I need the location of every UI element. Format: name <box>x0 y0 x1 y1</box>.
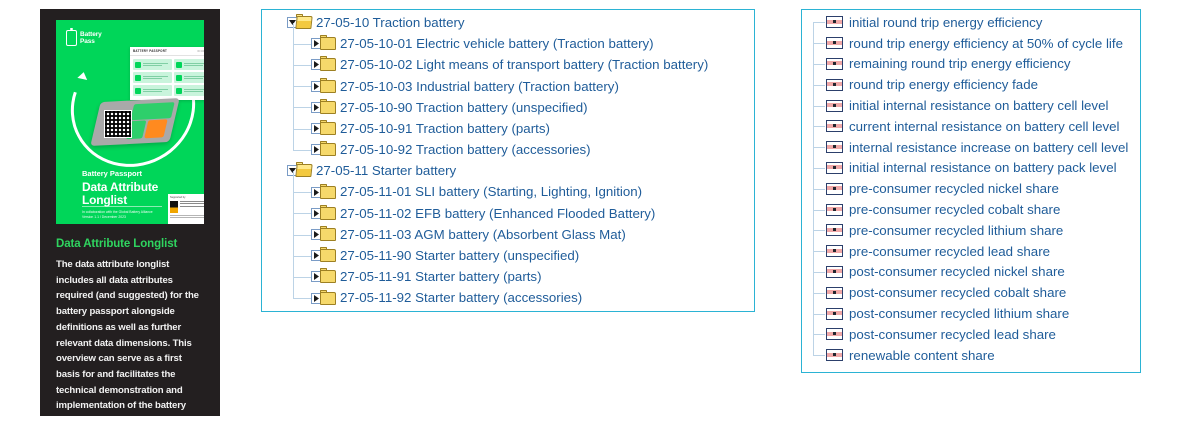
folder-icon <box>320 228 336 241</box>
tree-connector <box>293 107 311 108</box>
tree-connector <box>293 23 294 150</box>
tree-connector <box>293 213 311 214</box>
folder-icon <box>320 207 336 220</box>
tree-connector <box>293 86 311 87</box>
cover-kicker: Battery Passport <box>82 169 196 178</box>
tree-connector <box>293 298 311 299</box>
tile-text-placeholder <box>184 76 204 80</box>
tree-connector <box>813 355 825 356</box>
tree-node-item[interactable]: 27-05-11-03 AGM battery (Absorbent Glass… <box>262 224 754 245</box>
cover-divider <box>82 206 162 207</box>
partner-logo <box>170 201 204 213</box>
attribute-list-item-label: renewable content share <box>843 349 995 362</box>
tile-text-placeholder <box>184 63 204 67</box>
attribute-list-item-label: post-consumer recycled lithium share <box>843 307 1069 320</box>
property-icon <box>826 37 843 49</box>
tree-connector <box>813 189 825 190</box>
attribute-list-item-label: round trip energy efficiency at 50% of c… <box>843 37 1123 50</box>
tile-text-placeholder <box>143 89 172 93</box>
tree-node-label: 27-05-11-91 Starter battery (parts) <box>336 270 542 283</box>
tree-connector <box>813 314 825 315</box>
attribute-list-item-label: initial round trip energy efficiency <box>843 16 1042 29</box>
property-icon <box>826 162 843 174</box>
dashboard-tile <box>174 59 204 70</box>
attribute-list-item-label: initial internal resistance on battery p… <box>843 161 1117 174</box>
attribute-list-item-label: remaining round trip energy efficiency <box>843 57 1071 70</box>
tile-icon <box>135 75 141 81</box>
tree-connector <box>813 230 825 231</box>
attribute-list-item[interactable]: initial internal resistance on battery c… <box>802 95 1140 116</box>
tree-connector <box>293 65 311 66</box>
tree-node-item[interactable]: 27-05-11-01 SLI battery (Starting, Light… <box>262 182 754 203</box>
battery-module-orange <box>144 119 167 138</box>
dashboard-mockup-meta: ID 0000-0000 <box>197 50 204 53</box>
tree-node-label: 27-05-11-03 AGM battery (Absorbent Glass… <box>336 228 626 241</box>
cover-credit-text: In collaboration with the Global Battery… <box>82 210 153 214</box>
attribute-list-item[interactable]: post-consumer recycled nickel share <box>802 262 1140 283</box>
tree-connector <box>813 85 825 86</box>
property-icon <box>826 183 843 195</box>
folder-icon <box>320 270 336 283</box>
tree-node-label: 27-05-10-03 Industrial battery (Traction… <box>336 80 619 93</box>
battery-icon <box>66 30 77 46</box>
tree-node-item[interactable]: 27-05-10-91 Traction battery (parts) <box>262 118 754 139</box>
tree-connector <box>813 293 825 294</box>
tree-connector <box>293 277 311 278</box>
tree-connector <box>813 22 825 23</box>
brand-line-2: Pass <box>80 38 95 45</box>
attribute-list-item-label: pre-consumer recycled lithium share <box>843 224 1063 237</box>
tile-text-placeholder <box>184 89 204 93</box>
tree-node-label: 27-05-10-92 Traction battery (accessorie… <box>336 143 591 156</box>
folder-icon <box>320 80 336 93</box>
property-icon <box>826 100 843 112</box>
brand-line-1: Battery <box>80 31 102 38</box>
partner-footnote-placeholder <box>170 215 204 219</box>
cover-card: Battery Pass BATTERY PASSPORT ID 0000-00… <box>40 9 220 416</box>
battery-pass-logo: Battery Pass <box>66 30 102 46</box>
tree-connector <box>813 64 825 65</box>
tree-node-label: 27-05-10-01 Electric vehicle battery (Tr… <box>336 37 654 50</box>
dashboard-mockup-tiles <box>130 56 204 99</box>
tree-connector <box>293 235 311 236</box>
tree-connector <box>293 171 294 298</box>
property-icon <box>826 224 843 236</box>
attribute-list-item[interactable]: pre-consumer recycled lithium share <box>802 220 1140 241</box>
tree-connector <box>293 129 311 130</box>
attribute-list-item[interactable]: post-consumer recycled cobalt share <box>802 282 1140 303</box>
partner-caption: Supported by <box>170 196 204 199</box>
folder-icon <box>320 58 336 71</box>
attribute-list-item-label: post-consumer recycled nickel share <box>843 265 1065 278</box>
dashboard-tile <box>133 59 172 70</box>
property-icon <box>826 287 843 299</box>
tree-node-label: 27-05-11-90 Starter battery (unspecified… <box>336 249 579 262</box>
battery-pass-wordmark: Battery Pass <box>80 31 102 45</box>
cover-credit: In collaboration with the Global Battery… <box>82 210 168 220</box>
folder-icon <box>320 122 336 135</box>
classification-tree-panel[interactable]: 27-05-10 Traction battery27-05-10-01 Ele… <box>261 9 755 312</box>
tree-node-item[interactable]: 27-05-10-02 Light means of transport bat… <box>262 54 754 75</box>
tile-icon <box>176 88 182 94</box>
tile-text-placeholder <box>143 76 172 80</box>
tree-node-item[interactable]: 27-05-10-90 Traction battery (unspecifie… <box>262 97 754 118</box>
attribute-list-item-label: pre-consumer recycled nickel share <box>843 182 1059 195</box>
tree-node-group[interactable]: 27-05-10 Traction battery <box>262 12 754 33</box>
attribute-list-item-label: pre-consumer recycled lead share <box>843 245 1050 258</box>
tree-node-item[interactable]: 27-05-11-91 Starter battery (parts) <box>262 266 754 287</box>
cover-version-text: Version 1.1 / December 2023 <box>82 215 126 219</box>
attribute-list-item[interactable]: round trip energy efficiency fade <box>802 74 1140 95</box>
tree-connector <box>293 192 311 193</box>
property-icon <box>826 266 843 278</box>
tree-connector <box>293 150 311 151</box>
tree-node-item[interactable]: 27-05-10-01 Electric vehicle battery (Tr… <box>262 33 754 54</box>
tree-connector <box>293 256 311 257</box>
folder-icon <box>320 292 336 305</box>
dashboard-tile <box>133 72 172 83</box>
property-icon <box>826 58 843 70</box>
dashboard-tile <box>133 85 172 96</box>
attribute-list-item-label: initial internal resistance on battery c… <box>843 99 1108 112</box>
attribute-list-item-label: internal resistance increase on battery … <box>843 141 1128 154</box>
tree-node-label: 27-05-11-02 EFB battery (Enhanced Floode… <box>336 207 655 220</box>
cover-title-line-2: Longlist <box>82 193 127 207</box>
dashboard-mockup-title: BATTERY PASSPORT <box>133 49 167 53</box>
attribute-list-item[interactable]: round trip energy efficiency at 50% of c… <box>802 33 1140 54</box>
folder-icon <box>320 143 336 156</box>
tree-connector <box>293 44 311 45</box>
attribute-list-item[interactable]: internal resistance increase on battery … <box>802 137 1140 158</box>
tree-node-group[interactable]: 27-05-11 Starter battery <box>262 160 754 181</box>
attribute-list-item[interactable]: initial internal resistance on battery p… <box>802 158 1140 179</box>
property-icon <box>826 141 843 153</box>
attribute-list-item-label: post-consumer recycled cobalt share <box>843 286 1066 299</box>
tree-node-label: 27-05-11-92 Starter battery (accessories… <box>336 291 582 304</box>
attribute-list-item[interactable]: initial round trip energy efficiency <box>802 12 1140 33</box>
tile-icon <box>135 88 141 94</box>
folder-icon <box>320 249 336 262</box>
attribute-list-item-label: post-consumer recycled lead share <box>843 328 1056 341</box>
tree-node-label: 27-05-10-91 Traction battery (parts) <box>336 122 550 135</box>
folder-icon <box>320 101 336 114</box>
tree-node-label: 27-05-10-90 Traction battery (unspecifie… <box>336 101 588 114</box>
partner-logo-box: Supported by <box>168 194 204 224</box>
attribute-list-item[interactable]: pre-consumer recycled lead share <box>802 241 1140 262</box>
property-icon <box>826 245 843 257</box>
property-icon <box>826 204 843 216</box>
tile-icon <box>176 62 182 68</box>
qr-code-icon <box>104 110 132 138</box>
tree-connector <box>813 43 825 44</box>
attribute-list-item[interactable]: remaining round trip energy efficiency <box>802 54 1140 75</box>
tree-connector <box>813 168 825 169</box>
tree-node-label: 27-05-10 Traction battery <box>312 16 465 29</box>
cover-title-line-1: Data Attribute <box>82 180 158 194</box>
tree-connector <box>813 334 825 335</box>
tree-connector <box>813 210 825 211</box>
tree-node-item[interactable]: 27-05-11-02 EFB battery (Enhanced Floode… <box>262 203 754 224</box>
dashboard-tile <box>174 85 204 96</box>
partner-emblem-icon <box>170 201 178 213</box>
tree-connector <box>813 106 825 107</box>
cover-card-description: The data attribute longlist includes all… <box>56 257 208 416</box>
tree-node-item[interactable]: 27-05-10-92 Traction battery (accessorie… <box>262 139 754 160</box>
tree-node-label: 27-05-11-01 SLI battery (Starting, Light… <box>336 185 642 198</box>
property-icon <box>826 120 843 132</box>
tree-node-label: 27-05-10-02 Light means of transport bat… <box>336 58 708 71</box>
attribute-list-item[interactable]: post-consumer recycled lead share <box>802 324 1140 345</box>
tree-node-label: 27-05-11 Starter battery <box>312 164 456 177</box>
tile-icon <box>135 62 141 68</box>
attribute-list-item-label: pre-consumer recycled cobalt share <box>843 203 1060 216</box>
battery-module-green <box>130 102 174 120</box>
property-icon <box>826 349 843 361</box>
property-icon <box>826 308 843 320</box>
tree-connector <box>813 22 814 355</box>
attribute-list-item-label: current internal resistance on battery c… <box>843 120 1120 133</box>
tree-node-item[interactable]: 27-05-11-92 Starter battery (accessories… <box>262 287 754 308</box>
property-icon <box>826 16 843 28</box>
cover-artwork: Battery Pass BATTERY PASSPORT ID 0000-00… <box>56 20 204 224</box>
dashboard-mockup: BATTERY PASSPORT ID 0000-0000 <box>130 47 204 100</box>
tree-connector <box>813 272 825 273</box>
attribute-list-item[interactable]: renewable content share <box>802 345 1140 366</box>
folder-icon <box>320 37 336 50</box>
folder-icon <box>320 186 336 199</box>
property-icon <box>826 79 843 91</box>
tree-connector <box>813 126 825 127</box>
tile-text-placeholder <box>143 63 172 67</box>
attribute-list-item[interactable]: pre-consumer recycled nickel share <box>802 178 1140 199</box>
dashboard-tile <box>174 72 204 83</box>
attribute-list-item[interactable]: pre-consumer recycled cobalt share <box>802 199 1140 220</box>
property-icon <box>826 328 843 340</box>
folder-open-icon <box>296 164 312 177</box>
tree-node-item[interactable]: 27-05-11-90 Starter battery (unspecified… <box>262 245 754 266</box>
tree-connector <box>813 147 825 148</box>
cover-card-heading: Data Attribute Longlist <box>56 238 210 250</box>
tree-connector <box>813 251 825 252</box>
tree-node-item[interactable]: 27-05-10-03 Industrial battery (Traction… <box>262 76 754 97</box>
dashboard-mockup-titlebar: BATTERY PASSPORT ID 0000-0000 <box>130 47 204 56</box>
partner-name-placeholder <box>180 201 204 213</box>
folder-open-icon <box>296 16 312 29</box>
attribute-list-item[interactable]: post-consumer recycled lithium share <box>802 303 1140 324</box>
attribute-list-panel[interactable]: initial round trip energy efficiencyroun… <box>801 9 1141 373</box>
attribute-list-item[interactable]: current internal resistance on battery c… <box>802 116 1140 137</box>
attribute-list-item-label: round trip energy efficiency fade <box>843 78 1038 91</box>
tile-icon <box>176 75 182 81</box>
